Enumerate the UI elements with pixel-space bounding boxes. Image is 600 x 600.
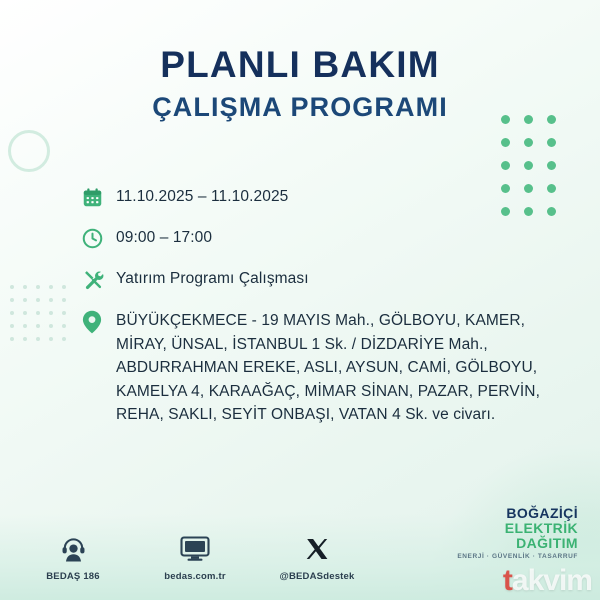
- info-row-address-text: BÜYÜKÇEKMECE - 19 MAYIS Mah., GÖLBOYU, K…: [116, 309, 564, 427]
- company-logo: BOĞAZİÇİ ELEKTRİK DAĞITIM ENERJİ · GÜVEN…: [457, 506, 578, 560]
- info-row-time: 09:00 – 17:00: [82, 227, 564, 253]
- info-row-time-text: 09:00 – 17:00: [116, 227, 212, 249]
- footer-item-social[interactable]: @BEDASdestek: [274, 532, 360, 582]
- title-sub: ÇALIŞMA PROGRAMI: [0, 92, 600, 123]
- tools-icon: [82, 268, 116, 294]
- dot-grid-left-decoration: [10, 285, 66, 341]
- title-main: PLANLI BAKIM: [0, 46, 600, 85]
- footer-item-website-label: bedas.com.tr: [152, 571, 238, 582]
- footer-item-call-center[interactable]: BEDAŞ 186: [30, 532, 116, 582]
- footer-item-website[interactable]: bedas.com.tr: [152, 532, 238, 582]
- brand-tagline: ENERJİ · GÜVENLİK · TASARRUF: [457, 553, 578, 560]
- x-logo-icon: [274, 532, 360, 566]
- location-pin-icon: [82, 309, 116, 335]
- monitor-icon: [152, 532, 238, 566]
- watermark-accent: t: [503, 564, 512, 597]
- maintenance-notice-card: PLANLI BAKIM ÇALIŞMA PROGRAMI: [0, 0, 600, 600]
- headset-agent-icon: [30, 532, 116, 566]
- brand-line-2: ELEKTRİK: [457, 521, 578, 536]
- footer-contacts: BEDAŞ 186 bedas.com.tr @BEDASdestek: [30, 532, 360, 582]
- footer-item-social-label: @BEDASdestek: [274, 571, 360, 582]
- clock-icon: [82, 227, 116, 253]
- brand-line-1: BOĞAZİÇİ: [457, 506, 578, 521]
- watermark-text: akvim: [512, 564, 592, 597]
- info-list: 11.10.2025 – 11.10.2025 09:00 – 17:00 Ya…: [82, 186, 564, 442]
- brand-line-3: DAĞITIM: [457, 536, 578, 551]
- page-title: PLANLI BAKIM ÇALIŞMA PROGRAMI: [0, 46, 600, 123]
- footer-item-call-center-label: BEDAŞ 186: [30, 571, 116, 582]
- info-row-date-text: 11.10.2025 – 11.10.2025: [116, 186, 288, 208]
- info-row-date: 11.10.2025 – 11.10.2025: [82, 186, 564, 212]
- info-row-work-type-text: Yatırım Programı Çalışması: [116, 268, 309, 290]
- calendar-icon: [82, 186, 116, 212]
- circle-outline-decoration: [8, 130, 50, 172]
- info-row-address: BÜYÜKÇEKMECE - 19 MAYIS Mah., GÖLBOYU, K…: [82, 309, 564, 427]
- watermark: takvim: [503, 564, 592, 598]
- info-row-work-type: Yatırım Programı Çalışması: [82, 268, 564, 294]
